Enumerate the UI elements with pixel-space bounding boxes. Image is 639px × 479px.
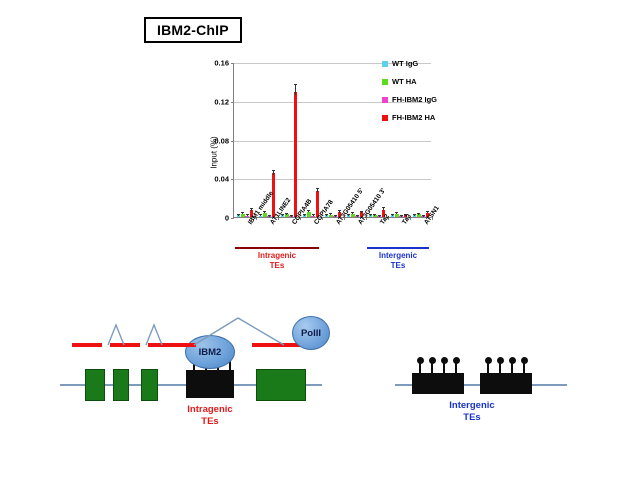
error-bar-cap: [356, 215, 359, 216]
ibm2-label: IBM2: [199, 347, 222, 358]
legend-item[interactable]: FH-IBM2 HA: [382, 113, 437, 122]
bar-group: [234, 63, 256, 217]
y-tick-label: 0.16: [214, 59, 229, 68]
error-bar-cap: [329, 213, 332, 214]
error-bar-cap: [237, 214, 240, 215]
error-bar: [251, 209, 252, 211]
polii-polymerase: PolII: [292, 316, 330, 350]
intragenic-te-label: Intragenic TEs: [160, 404, 260, 428]
error-bar: [330, 214, 331, 215]
error-bar: [264, 212, 265, 213]
bar[interactable]: [245, 216, 248, 217]
error-bar-cap: [422, 215, 425, 216]
legend-label: WT IgG: [392, 59, 418, 68]
figure-title: IBM2-ChIP: [144, 17, 242, 43]
bar[interactable]: [399, 216, 402, 217]
bar[interactable]: [395, 214, 398, 217]
legend-swatch: [382, 61, 388, 67]
bar-group: [300, 63, 322, 217]
error-bar: [273, 171, 274, 175]
bar[interactable]: [267, 216, 270, 217]
y-tick-mark: [231, 218, 234, 219]
error-bar: [286, 214, 287, 215]
chart-legend: WT IgGWT HAFH-IBM2 IgGFH-IBM2 HA: [382, 59, 437, 131]
group-label-line2: TEs: [367, 261, 429, 271]
exon-box: [85, 369, 105, 401]
group-bracket: [367, 247, 429, 249]
model-diagram: IBM2 PolII Intragenic TEs Intergenic TEs: [0, 300, 639, 479]
splice-arcs: [60, 316, 330, 348]
error-bar-cap: [382, 207, 385, 208]
error-bar: [242, 213, 243, 214]
y-tick-label: 0.08: [214, 136, 229, 145]
methylation-lollipop-stem: [487, 362, 489, 376]
methylation-lollipop-head: [453, 357, 460, 364]
error-bar-cap: [268, 215, 271, 216]
group-label: IntragenicTEs: [235, 251, 319, 271]
bar[interactable]: [307, 212, 310, 217]
error-bar: [317, 189, 318, 192]
intragenic-te-label-line1: Intragenic: [160, 404, 260, 416]
error-bar-cap: [316, 188, 319, 189]
error-bar: [427, 212, 428, 213]
methylation-lollipop-stem: [443, 362, 445, 376]
intergenic-te-label: Intergenic TEs: [422, 400, 522, 424]
error-bar: [396, 213, 397, 214]
legend-swatch: [382, 97, 388, 103]
polii-label: PolII: [301, 328, 321, 339]
bar[interactable]: [237, 215, 240, 217]
methylation-lollipop-stem: [511, 362, 513, 376]
error-bar: [308, 211, 309, 212]
exon-box: [141, 369, 158, 401]
error-bar-cap: [285, 213, 288, 214]
methylation-lollipop-head: [485, 357, 492, 364]
error-bar-cap: [272, 170, 275, 171]
legend-label: WT HA: [392, 77, 417, 86]
methylation-lollipop-head: [497, 357, 504, 364]
methylation-lollipop-head: [417, 357, 424, 364]
y-tick-label: 0: [225, 214, 229, 223]
error-bar-cap: [417, 213, 420, 214]
bar[interactable]: [329, 215, 332, 217]
bar[interactable]: [285, 214, 288, 217]
error-bar-cap: [378, 215, 381, 216]
group-label-line1: Intragenic: [235, 251, 319, 261]
error-bar: [383, 208, 384, 210]
intergenic-te-box: [412, 373, 464, 394]
bar[interactable]: [413, 215, 416, 217]
error-bar-cap: [250, 208, 253, 209]
intragenic-te-label-line2: TEs: [160, 416, 260, 428]
bar[interactable]: [333, 216, 336, 217]
legend-item[interactable]: FH-IBM2 IgG: [382, 95, 437, 104]
error-bar-cap: [294, 84, 297, 85]
methylation-lollipop-stem: [419, 362, 421, 376]
legend-swatch: [382, 115, 388, 121]
exon-box: [256, 369, 306, 401]
error-bar-cap: [373, 214, 376, 215]
group-bracket: [235, 247, 319, 249]
error-bar-cap: [263, 211, 266, 212]
methylation-lollipop-stem: [455, 362, 457, 376]
bar[interactable]: [311, 216, 314, 217]
methylation-lollipop-head: [509, 357, 516, 364]
error-bar-cap: [334, 215, 337, 216]
bar[interactable]: [289, 216, 292, 217]
intergenic-te-label-line2: TEs: [422, 412, 522, 424]
exon-box: [113, 369, 129, 401]
intergenic-te-label-line1: Intergenic: [422, 400, 522, 412]
error-bar-cap: [426, 211, 429, 212]
bar[interactable]: [377, 216, 380, 217]
group-label-line1: Intergenic: [367, 251, 429, 261]
methylation-lollipop-stem: [431, 362, 433, 376]
bar[interactable]: [373, 215, 376, 217]
legend-label: FH-IBM2 HA: [392, 113, 435, 122]
bar-group: [322, 63, 344, 217]
legend-swatch: [382, 79, 388, 85]
group-label-line2: TEs: [235, 261, 319, 271]
error-bar-cap: [312, 214, 315, 215]
error-bar-cap: [395, 212, 398, 213]
error-bar-cap: [351, 212, 354, 213]
error-bar: [352, 213, 353, 214]
error-bar-cap: [246, 214, 249, 215]
chart-panel: Input (%) 00.040.080.120.16 IBM1 middleA…: [185, 55, 485, 280]
error-bar-cap: [413, 214, 416, 215]
methylation-lollipop-head: [441, 357, 448, 364]
error-bar-cap: [391, 214, 394, 215]
intragenic-te-box: [186, 370, 234, 398]
bar[interactable]: [241, 214, 244, 217]
legend-item[interactable]: WT IgG: [382, 59, 437, 68]
legend-label: FH-IBM2 IgG: [392, 95, 437, 104]
error-bar-cap: [400, 215, 403, 216]
bar[interactable]: [263, 213, 266, 217]
bar[interactable]: [294, 92, 297, 217]
methylation-lollipop-head: [521, 357, 528, 364]
methylation-lollipop-stem: [499, 362, 501, 376]
legend-item[interactable]: WT HA: [382, 77, 437, 86]
y-tick-label: 0.12: [214, 97, 229, 106]
methylation-lollipop-head: [429, 357, 436, 364]
y-tick-label: 0.04: [214, 175, 229, 184]
error-bar-cap: [338, 210, 341, 211]
intergenic-te-box: [480, 373, 532, 394]
bar-group: [278, 63, 300, 217]
error-bar: [295, 85, 296, 95]
bar[interactable]: [355, 216, 358, 217]
bar[interactable]: [421, 216, 424, 217]
error-bar-cap: [290, 215, 293, 216]
error-bar: [361, 212, 362, 213]
error-bar-cap: [360, 211, 363, 212]
error-bar: [418, 214, 419, 215]
error-bar-cap: [241, 212, 244, 213]
error-bar: [339, 211, 340, 212]
group-label: IntergenicTEs: [367, 251, 429, 271]
bar[interactable]: [351, 214, 354, 217]
bar[interactable]: [417, 214, 420, 217]
methylation-lollipop-stem: [523, 362, 525, 376]
bar[interactable]: [391, 215, 394, 217]
